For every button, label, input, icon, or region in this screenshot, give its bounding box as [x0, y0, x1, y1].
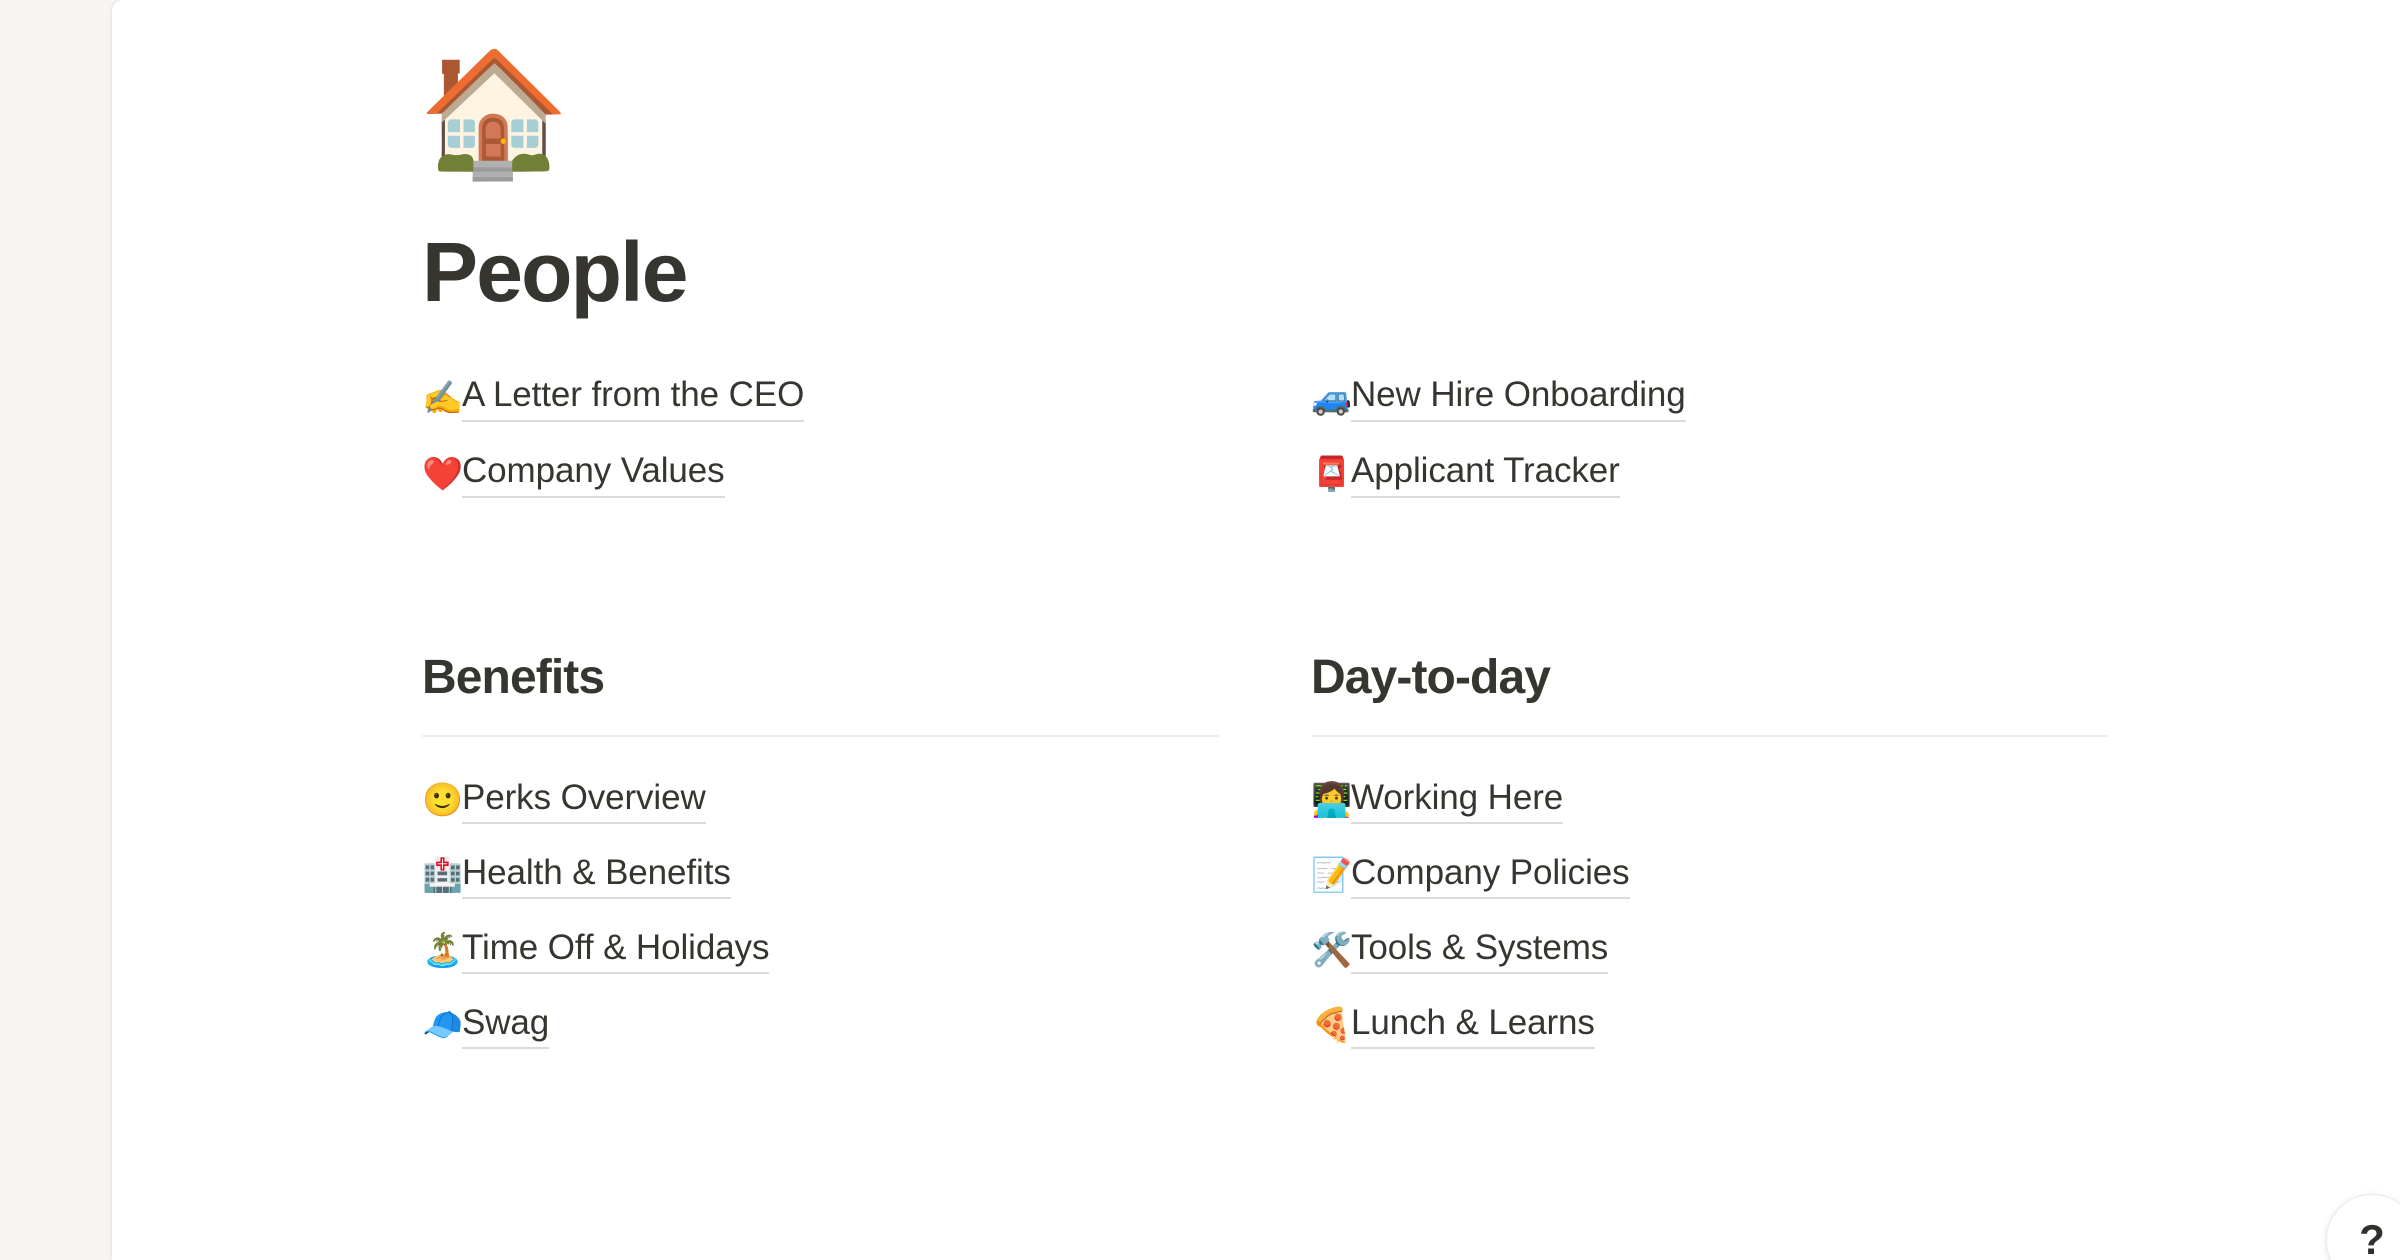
top-links-left-column: ✍️ A Letter from the CEO ❤️ Company Valu…: [422, 372, 1219, 498]
link-label[interactable]: Applicant Tracker: [1351, 449, 1620, 498]
link-row-perks-overview[interactable]: 🙂 Perks Overview: [422, 775, 1219, 825]
link-row-company-policies[interactable]: 📝 Company Policies: [1311, 850, 2108, 900]
link-label[interactable]: Swag: [462, 1001, 549, 1050]
billed-cap-emoji: 🧢: [422, 1008, 462, 1041]
page-body: 🏠 People ✍️ A Letter from the CEO ❤️ Com…: [422, 0, 2222, 1075]
blue-car-emoji: 🚙: [1311, 381, 1351, 414]
link-label[interactable]: A Letter from the CEO: [462, 373, 804, 422]
section-heading-benefits: Benefits: [422, 652, 1219, 705]
slightly-smiling-face-emoji: 🙂: [422, 783, 462, 816]
link-label[interactable]: Working Here: [1351, 776, 1563, 825]
link-row-company-values[interactable]: ❤️ Company Values: [422, 448, 1219, 498]
link-list: ✍️ A Letter from the CEO ❤️ Company Valu…: [422, 372, 1219, 498]
section-benefits: Benefits 🙂 Perks Overview 🏥 Health & Ben…: [422, 652, 1219, 1075]
link-label[interactable]: Lunch & Learns: [1351, 1001, 1595, 1050]
desert-island-emoji: 🏝️: [422, 933, 462, 966]
sections-columns: Benefits 🙂 Perks Overview 🏥 Health & Ben…: [422, 554, 2222, 1075]
link-label[interactable]: New Hire Onboarding: [1351, 373, 1686, 422]
woman-technologist-emoji: 👩‍💻: [1311, 783, 1351, 816]
link-label[interactable]: Company Values: [462, 449, 725, 498]
section-heading-day-to-day: Day-to-day: [1311, 652, 2108, 705]
link-row-time-off-and-holidays[interactable]: 🏝️ Time Off & Holidays: [422, 925, 1219, 975]
postbox-emoji: 📮: [1311, 457, 1351, 490]
section-day-to-day: Day-to-day 👩‍💻 Working Here 📝 Company Po…: [1311, 652, 2108, 1075]
help-button[interactable]: ?: [2326, 1194, 2400, 1260]
writing-hand-emoji: ✍️: [422, 381, 462, 414]
page-content-panel: 🏠 People ✍️ A Letter from the CEO ❤️ Com…: [112, 0, 2400, 1260]
house-emoji[interactable]: 🏠: [418, 52, 2222, 184]
pizza-emoji: 🍕: [1311, 1008, 1351, 1041]
link-label[interactable]: Perks Overview: [462, 776, 706, 825]
link-label[interactable]: Tools & Systems: [1351, 926, 1608, 975]
link-row-swag[interactable]: 🧢 Swag: [422, 1000, 1219, 1050]
link-row-tools-and-systems[interactable]: 🛠️ Tools & Systems: [1311, 925, 2108, 975]
link-row-working-here[interactable]: 👩‍💻 Working Here: [1311, 775, 2108, 825]
link-label[interactable]: Time Off & Holidays: [462, 926, 769, 975]
section-divider: [1311, 735, 2108, 737]
sidebar-panel[interactable]: [0, 0, 112, 1260]
top-links-columns: ✍️ A Letter from the CEO ❤️ Company Valu…: [422, 372, 2222, 498]
red-heart-emoji: ❤️: [422, 457, 462, 490]
link-row-new-hire-onboarding[interactable]: 🚙 New Hire Onboarding: [1311, 372, 2108, 422]
page-title: People: [422, 228, 2222, 316]
hammer-and-wrench-emoji: 🛠️: [1311, 933, 1351, 966]
section-divider: [422, 735, 1219, 737]
memo-emoji: 📝: [1311, 858, 1351, 891]
link-list: 🙂 Perks Overview 🏥 Health & Benefits 🏝️ …: [422, 775, 1219, 1050]
link-list: 🚙 New Hire Onboarding 📮 Applicant Tracke…: [1311, 372, 2108, 498]
link-row-health-and-benefits[interactable]: 🏥 Health & Benefits: [422, 850, 1219, 900]
link-row-lunch-and-learns[interactable]: 🍕 Lunch & Learns: [1311, 1000, 2108, 1050]
link-label[interactable]: Company Policies: [1351, 851, 1630, 900]
link-list: 👩‍💻 Working Here 📝 Company Policies 🛠️ T…: [1311, 775, 2108, 1050]
link-label[interactable]: Health & Benefits: [462, 851, 731, 900]
link-row-applicant-tracker[interactable]: 📮 Applicant Tracker: [1311, 448, 2108, 498]
top-links-right-column: 🚙 New Hire Onboarding 📮 Applicant Tracke…: [1311, 372, 2108, 498]
link-row-letter-from-the-ceo[interactable]: ✍️ A Letter from the CEO: [422, 372, 1219, 422]
hospital-emoji: 🏥: [422, 858, 462, 891]
